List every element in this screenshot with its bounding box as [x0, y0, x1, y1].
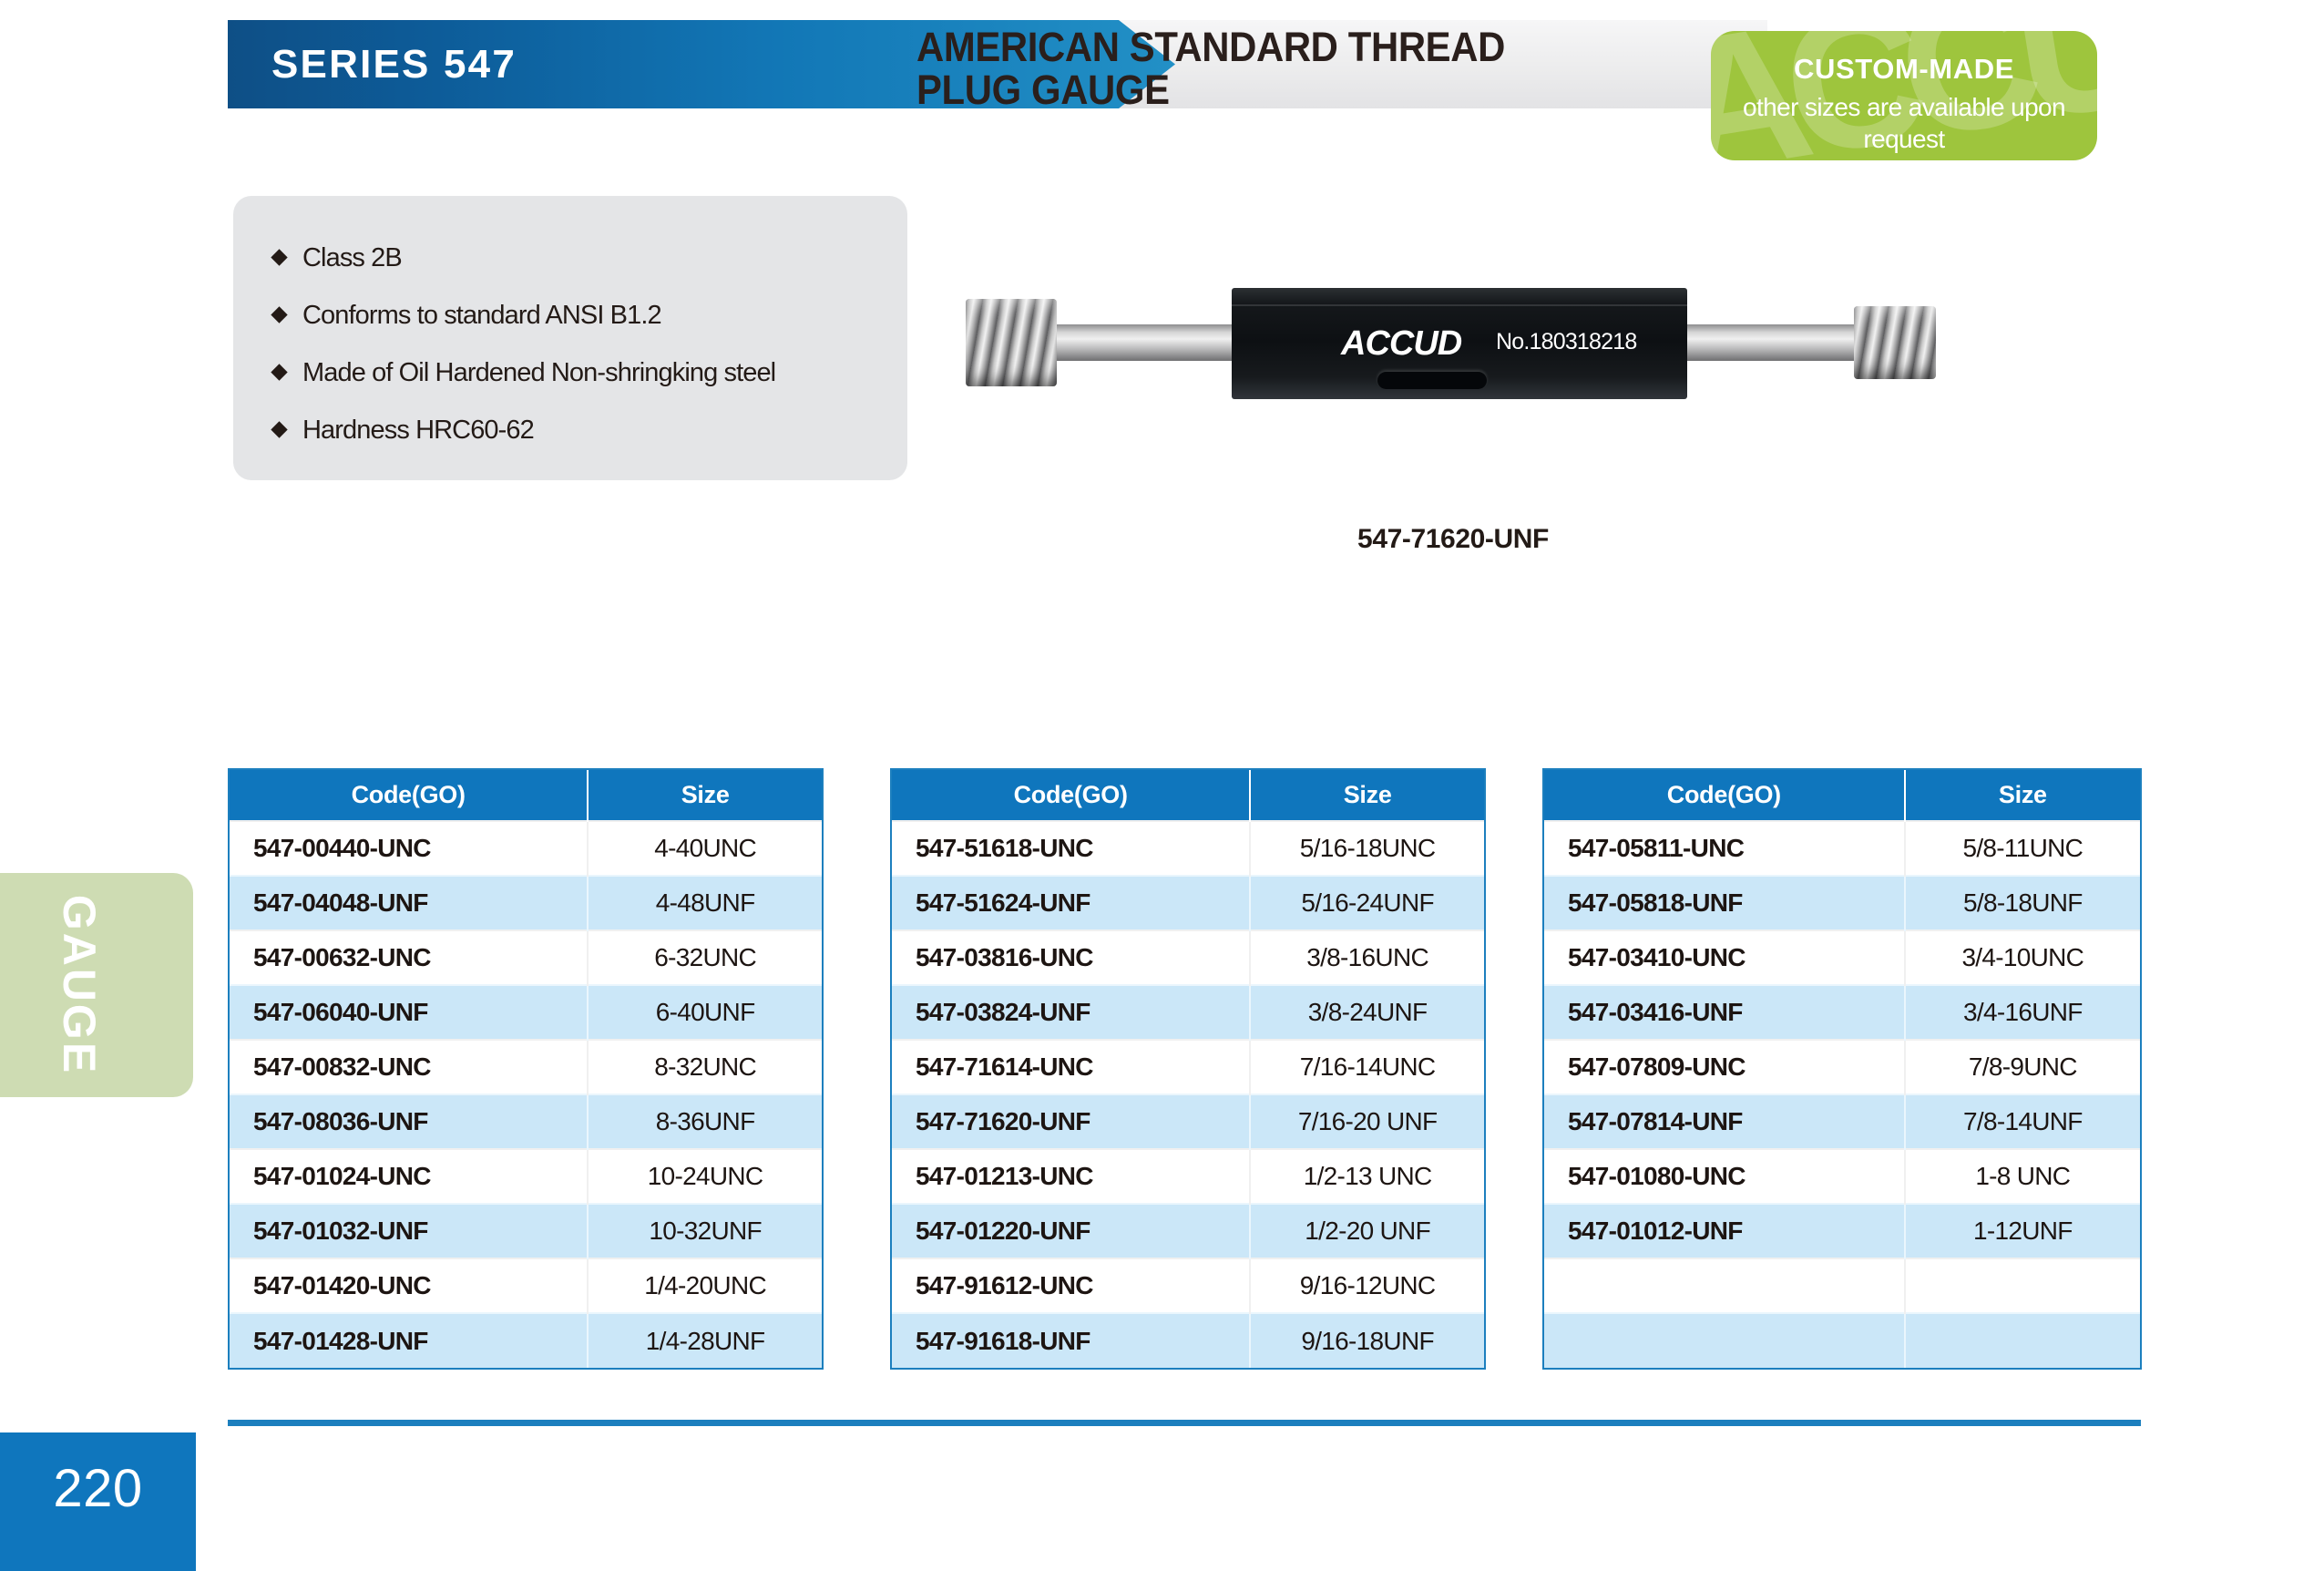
cell-size: 3/8-16UNC	[1250, 930, 1484, 985]
column-header-code: Code(GO)	[892, 770, 1250, 821]
table-row[interactable]: 547-04048-UNF4-48UNF	[230, 876, 822, 930]
section-tab-label: GAUGE	[53, 895, 106, 1075]
cell-code: 547-03824-UNF	[892, 985, 1250, 1040]
cell-code	[1544, 1313, 1905, 1368]
cell-code: 547-08036-UNF	[230, 1094, 588, 1149]
table-row[interactable]: 547-03816-UNC3/8-16UNC	[892, 930, 1484, 985]
table-row[interactable]: 547-91618-UNF9/16-18UNF	[892, 1313, 1484, 1368]
page-number-block: 220	[0, 1432, 196, 1571]
section-tab-gauge[interactable]: GAUGE	[0, 873, 193, 1097]
cell-code: 547-01213-UNC	[892, 1149, 1250, 1204]
table-row[interactable]: 547-01080-UNC1-8 UNC	[1544, 1149, 2140, 1204]
cell-code: 547-00632-UNC	[230, 930, 588, 985]
cell-size: 3/4-10UNC	[1905, 930, 2140, 985]
cell-code: 547-03410-UNC	[1544, 930, 1905, 985]
table-row[interactable]: 547-01220-UNF1/2-20 UNF	[892, 1204, 1484, 1258]
table-row[interactable]	[1544, 1313, 2140, 1368]
table-row[interactable]: 547-51618-UNC5/16-18UNC	[892, 821, 1484, 876]
page-number: 220	[0, 1458, 196, 1519]
cell-size: 9/16-12UNC	[1250, 1258, 1484, 1313]
cell-size: 7/8-14UNF	[1905, 1094, 2140, 1149]
product-slot	[1377, 372, 1487, 389]
cell-size: 3/4-16UNF	[1905, 985, 2140, 1040]
table-row[interactable]: 547-03410-UNC3/4-10UNC	[1544, 930, 2140, 985]
series-label: SERIES 547	[271, 20, 517, 108]
diamond-bullet-icon	[271, 364, 287, 380]
cell-size: 8-36UNF	[588, 1094, 822, 1149]
column-header-size: Size	[1905, 770, 2140, 821]
cell-size: 10-32UNF	[588, 1204, 822, 1258]
cell-code	[1544, 1258, 1905, 1313]
table-row[interactable]: 547-00832-UNC8-32UNC	[230, 1040, 822, 1094]
cell-code: 547-51624-UNF	[892, 876, 1250, 930]
column-header-size: Size	[1250, 770, 1484, 821]
badge-subtitle: other sizes are available upon request	[1711, 91, 2097, 155]
product-caption: 547-71620-UNF	[966, 524, 1940, 555]
table-row[interactable]: 547-05811-UNC5/8-11UNC	[1544, 821, 2140, 876]
table-row[interactable]: 547-05818-UNF5/8-18UNF	[1544, 876, 2140, 930]
feature-text: Hardness HRC60-62	[302, 416, 534, 445]
cell-size	[1905, 1313, 2140, 1368]
cell-size: 7/8-9UNC	[1905, 1040, 2140, 1094]
footer-rule	[228, 1420, 2141, 1426]
table-row[interactable]: 547-03416-UNF3/4-16UNF	[1544, 985, 2140, 1040]
catalog-page: SERIES 547 AMERICAN STANDARD THREAD PLUG…	[0, 0, 2324, 1571]
cell-size: 1/2-13 UNC	[1250, 1149, 1484, 1204]
cell-size: 1/4-20UNC	[588, 1258, 822, 1313]
cell-size	[1905, 1258, 2140, 1313]
cell-code: 547-01024-UNC	[230, 1149, 588, 1204]
cell-code: 547-05811-UNC	[1544, 821, 1905, 876]
product-table-3: Code(GO) Size 547-05811-UNC5/8-11UNC 547…	[1542, 768, 2142, 1370]
column-header-code: Code(GO)	[1544, 770, 1905, 821]
cell-code: 547-01420-UNC	[230, 1258, 588, 1313]
column-header-size: Size	[588, 770, 822, 821]
cell-size: 7/16-14UNC	[1250, 1040, 1484, 1094]
table-row[interactable]: 547-07809-UNC7/8-9UNC	[1544, 1040, 2140, 1094]
table-row[interactable]: 547-07814-UNF7/8-14UNF	[1544, 1094, 2140, 1149]
list-item: Hardness HRC60-62	[270, 414, 775, 447]
diamond-bullet-icon	[271, 421, 287, 437]
cell-code: 547-51618-UNC	[892, 821, 1250, 876]
cell-size: 3/8-24UNF	[1250, 985, 1484, 1040]
cell-code: 547-71614-UNC	[892, 1040, 1250, 1094]
product-thread-left	[966, 299, 1057, 386]
table-row[interactable]: 547-91612-UNC9/16-12UNC	[892, 1258, 1484, 1313]
features-list: Class 2B Conforms to standard ANSI B1.2 …	[270, 241, 775, 471]
cell-size: 4-40UNC	[588, 821, 822, 876]
product-serial-number: No.180318218	[1496, 329, 1636, 355]
feature-text: Class 2B	[302, 243, 402, 272]
table-row[interactable]: 547-01213-UNC1/2-13 UNC	[892, 1149, 1484, 1204]
cell-code: 547-06040-UNF	[230, 985, 588, 1040]
product-table-1: Code(GO) Size 547-00440-UNC4-40UNC 547-0…	[228, 768, 824, 1370]
table-row[interactable]: 547-00632-UNC6-32UNC	[230, 930, 822, 985]
cell-size: 4-48UNF	[588, 876, 822, 930]
cell-size: 8-32UNC	[588, 1040, 822, 1094]
cell-code: 547-71620-UNF	[892, 1094, 1250, 1149]
features-box: Class 2B Conforms to standard ANSI B1.2 …	[233, 196, 907, 480]
cell-code: 547-01220-UNF	[892, 1204, 1250, 1258]
cell-size: 6-32UNC	[588, 930, 822, 985]
cell-size: 5/16-24UNF	[1250, 876, 1484, 930]
table-row[interactable]: 547-03824-UNF3/8-24UNF	[892, 985, 1484, 1040]
table-row[interactable]: 547-51624-UNF5/16-24UNF	[892, 876, 1484, 930]
table-row[interactable]: 547-06040-UNF6-40UNF	[230, 985, 822, 1040]
diamond-bullet-icon	[271, 249, 287, 265]
cell-size: 5/8-18UNF	[1905, 876, 2140, 930]
table-row[interactable]: 547-01032-UNF10-32UNF	[230, 1204, 822, 1258]
product-table-2: Code(GO) Size 547-51618-UNC5/16-18UNC 54…	[890, 768, 1486, 1370]
cell-code: 547-03816-UNC	[892, 930, 1250, 985]
table-row[interactable]: 547-01420-UNC1/4-20UNC	[230, 1258, 822, 1313]
cell-size: 9/16-18UNF	[1250, 1313, 1484, 1368]
cell-code: 547-91612-UNC	[892, 1258, 1250, 1313]
cell-code: 547-00832-UNC	[230, 1040, 588, 1094]
cell-code: 547-07814-UNF	[1544, 1094, 1905, 1149]
badge-title: CUSTOM-MADE	[1711, 53, 2097, 86]
cell-code: 547-01032-UNF	[230, 1204, 588, 1258]
table-row[interactable]: 547-00440-UNC4-40UNC	[230, 821, 822, 876]
table-header-row: Code(GO) Size	[892, 770, 1484, 821]
list-item: Made of Oil Hardened Non-shringking stee…	[270, 356, 775, 389]
cell-code: 547-07809-UNC	[1544, 1040, 1905, 1094]
cell-size: 1/4-28UNF	[588, 1313, 822, 1368]
cell-size: 5/8-11UNC	[1905, 821, 2140, 876]
cell-size: 6-40UNF	[588, 985, 822, 1040]
product-thread-right	[1854, 306, 1936, 379]
diamond-bullet-icon	[271, 306, 287, 323]
page-title: AMERICAN STANDARD THREAD PLUG GAUGE	[916, 26, 1705, 111]
list-item: Class 2B	[270, 241, 775, 274]
cell-code: 547-01080-UNC	[1544, 1149, 1905, 1204]
cell-code: 547-01428-UNF	[230, 1313, 588, 1368]
cell-size: 1-8 UNC	[1905, 1149, 2140, 1204]
product-image: ACCUD No.180318218	[966, 262, 1940, 426]
cell-size: 10-24UNC	[588, 1149, 822, 1204]
table-row[interactable]: 547-08036-UNF8-36UNF	[230, 1094, 822, 1149]
cell-size: 7/16-20 UNF	[1250, 1094, 1484, 1149]
cell-size: 1-12UNF	[1905, 1204, 2140, 1258]
feature-text: Conforms to standard ANSI B1.2	[302, 301, 661, 330]
cell-code: 547-03416-UNF	[1544, 985, 1905, 1040]
custom-made-badge: ACCUD CUSTOM-MADE other sizes are availa…	[1711, 31, 2097, 160]
table-row[interactable]: 547-01428-UNF1/4-28UNF	[230, 1313, 822, 1368]
table-row[interactable]: 547-71614-UNC7/16-14UNC	[892, 1040, 1484, 1094]
feature-text: Made of Oil Hardened Non-shringking stee…	[302, 358, 775, 387]
cell-code: 547-05818-UNF	[1544, 876, 1905, 930]
cell-size: 1/2-20 UNF	[1250, 1204, 1484, 1258]
table-row[interactable]: 547-01024-UNC10-24UNC	[230, 1149, 822, 1204]
product-body: ACCUD No.180318218	[1232, 288, 1687, 399]
table-header-row: Code(GO) Size	[230, 770, 822, 821]
table-row[interactable]: 547-01012-UNF1-12UNF	[1544, 1204, 2140, 1258]
cell-code: 547-01012-UNF	[1544, 1204, 1905, 1258]
cell-code: 547-04048-UNF	[230, 876, 588, 930]
list-item: Conforms to standard ANSI B1.2	[270, 299, 775, 332]
table-row[interactable]	[1544, 1258, 2140, 1313]
product-brand-logo: ACCUD	[1341, 324, 1461, 364]
cell-code: 547-91618-UNF	[892, 1313, 1250, 1368]
cell-size: 5/16-18UNC	[1250, 821, 1484, 876]
table-row[interactable]: 547-71620-UNF7/16-20 UNF	[892, 1094, 1484, 1149]
table-header-row: Code(GO) Size	[1544, 770, 2140, 821]
cell-code: 547-00440-UNC	[230, 821, 588, 876]
column-header-code: Code(GO)	[230, 770, 588, 821]
